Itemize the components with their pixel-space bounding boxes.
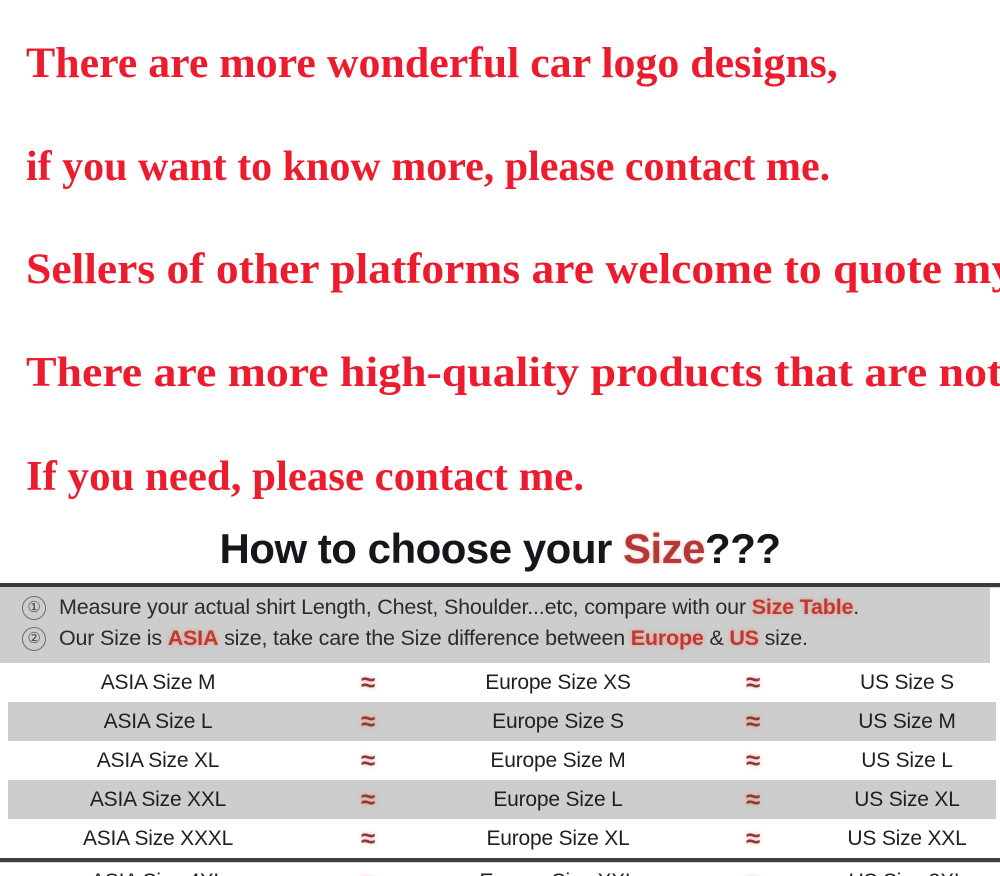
instruction-item: ② Our Size is ASIA size, take care the S… [0, 624, 990, 655]
emphasised-term: Size Table [752, 595, 854, 619]
cell-approx: ≈ [308, 669, 428, 697]
cell-approx: ≈ [308, 747, 428, 775]
cell-asia: ASIA Size XXXL [8, 827, 308, 851]
cell-europe: Europe Size XL [428, 827, 688, 851]
plain-text: size. [759, 626, 808, 650]
instruction-text: Measure your actual shirt Length, Chest,… [59, 595, 859, 620]
cell-approx: ≈ [308, 708, 428, 736]
cell-asia: ASIA Size L [8, 710, 308, 734]
cell-us: US Size S [818, 671, 996, 695]
approx-icon: ≈ [746, 866, 760, 876]
table-row: ASIA Size XL≈Europe Size M≈US Size L [0, 741, 1000, 780]
cell-asia: ASIA Size M [8, 671, 308, 695]
cell-asia: ASIA Size 4XL [8, 870, 308, 876]
emphasised-term: US [729, 626, 758, 650]
cell-europe: Europe Size M [428, 749, 688, 773]
approx-icon: ≈ [746, 823, 760, 853]
cell-approx: ≈ [308, 825, 428, 853]
promotional-text-block: There are more wonderful car logo design… [0, 0, 1000, 518]
approx-icon: ≈ [361, 667, 375, 697]
cell-europe: Europe Size XXL [428, 870, 688, 876]
instruction-text: Our Size is ASIA size, take care the Siz… [59, 626, 808, 651]
row-band: ASIA Size XXL≈Europe Size L≈US Size XL [8, 780, 996, 819]
heading-suffix: ??? [705, 525, 780, 572]
instructions-panel: ① Measure your actual shirt Length, Ches… [0, 587, 990, 663]
heading-prefix: How to choose your [219, 525, 623, 572]
row-band: ASIA Size XXXL≈Europe Size XL≈US Size XX… [8, 819, 996, 858]
approx-icon: ≈ [746, 784, 760, 814]
size-guide-heading: How to choose your Size??? [0, 525, 1000, 573]
approx-icon: ≈ [746, 706, 760, 736]
promo-line-3: Sellers of other platforms are welcome t… [26, 248, 1000, 291]
plain-text: & [704, 626, 730, 650]
approx-icon: ≈ [361, 745, 375, 775]
cell-approx: ≈ [688, 708, 818, 736]
cell-asia: ASIA Size XXL [8, 788, 308, 812]
cell-approx: ≈ [688, 669, 818, 697]
table-row: ASIA Size XXL≈Europe Size L≈US Size XL [0, 780, 1000, 819]
promo-line-4: There are more high-quality products tha… [26, 352, 1000, 394]
approx-icon: ≈ [361, 706, 375, 736]
cell-us: US Size M [818, 710, 996, 734]
cell-us: US Size XXL [818, 827, 996, 851]
heading-highlight-size: Size [623, 525, 705, 572]
row-band: ASIA Size XL≈Europe Size M≈US Size L [8, 741, 996, 780]
cell-us: US Size L [818, 749, 996, 773]
promo-line-1: There are more wonderful car logo design… [26, 42, 838, 85]
cell-approx: ≈ [688, 786, 818, 814]
plain-text: size, take care the Size difference betw… [218, 626, 631, 650]
plain-text: Our Size is [59, 626, 168, 650]
cell-europe: Europe Size S [428, 710, 688, 734]
promo-line-2: if you want to know more, please contact… [26, 146, 830, 188]
cell-europe: Europe Size L [428, 788, 688, 812]
approx-icon: ≈ [361, 823, 375, 853]
cell-europe: Europe Size XS [428, 671, 688, 695]
table-row: ASIA Size M≈Europe Size XS≈US Size S [0, 663, 1000, 702]
cell-approx: ≈ [308, 786, 428, 814]
cell-us: US Size 3XL [818, 870, 996, 876]
emphasised-term: Europe [631, 626, 704, 650]
emphasised-term: ASIA [168, 626, 219, 650]
cut-off-table-row: ASIA Size 4XL ≈ Europe Size XXL ≈ US Siz… [0, 862, 1000, 876]
row-band: ASIA Size L≈Europe Size S≈US Size M [8, 702, 996, 741]
circled-number-icon: ② [22, 627, 46, 651]
cell-us: US Size XL [818, 788, 996, 812]
row-band: ASIA Size M≈Europe Size XS≈US Size S [8, 663, 996, 702]
approx-icon: ≈ [746, 667, 760, 697]
cell-asia: ASIA Size XL [8, 749, 308, 773]
cell-approx: ≈ [688, 747, 818, 775]
approx-icon: ≈ [361, 866, 375, 876]
plain-text: Measure your actual shirt Length, Chest,… [59, 595, 752, 619]
promo-line-5: If you need, please contact me. [26, 456, 584, 498]
size-chart-block: ① Measure your actual shirt Length, Ches… [0, 583, 1000, 876]
instruction-item: ① Measure your actual shirt Length, Ches… [0, 593, 990, 624]
approx-icon: ≈ [746, 745, 760, 775]
table-row: ASIA Size L≈Europe Size S≈US Size M [0, 702, 1000, 741]
size-conversion-table: ASIA Size M≈Europe Size XS≈US Size SASIA… [0, 663, 1000, 858]
approx-icon: ≈ [361, 784, 375, 814]
cell-approx: ≈ [688, 825, 818, 853]
plain-text: . [853, 595, 859, 619]
circled-number-icon: ① [22, 596, 46, 620]
table-row: ASIA Size XXXL≈Europe Size XL≈US Size XX… [0, 819, 1000, 858]
